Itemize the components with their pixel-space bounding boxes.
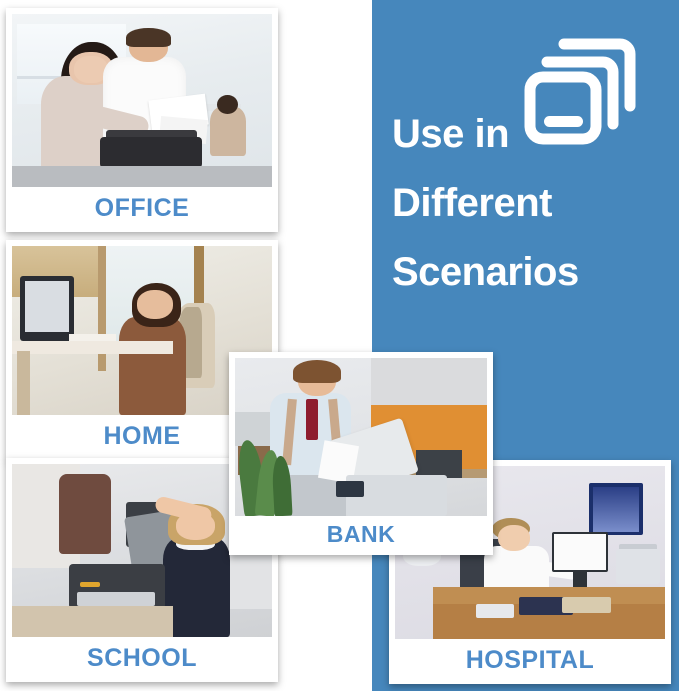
card-caption-office: OFFICE (12, 187, 272, 232)
card-caption-bank: BANK (235, 516, 487, 555)
card-caption-school: SCHOOL (12, 637, 272, 682)
heading-line-3: Scenarios (392, 238, 662, 307)
card-caption-hospital: HOSPITAL (395, 639, 665, 684)
scenario-card-office: OFFICE (6, 8, 278, 232)
bank-photo (235, 358, 487, 516)
office-photo (12, 14, 272, 187)
infographic-root: Use in Different Scenarios (0, 0, 679, 691)
scenario-card-bank: BANK (229, 352, 493, 555)
panel-heading: Use in Different Scenarios (392, 100, 662, 306)
heading-line-1: Use in (392, 100, 662, 169)
heading-line-2: Different (392, 169, 662, 238)
